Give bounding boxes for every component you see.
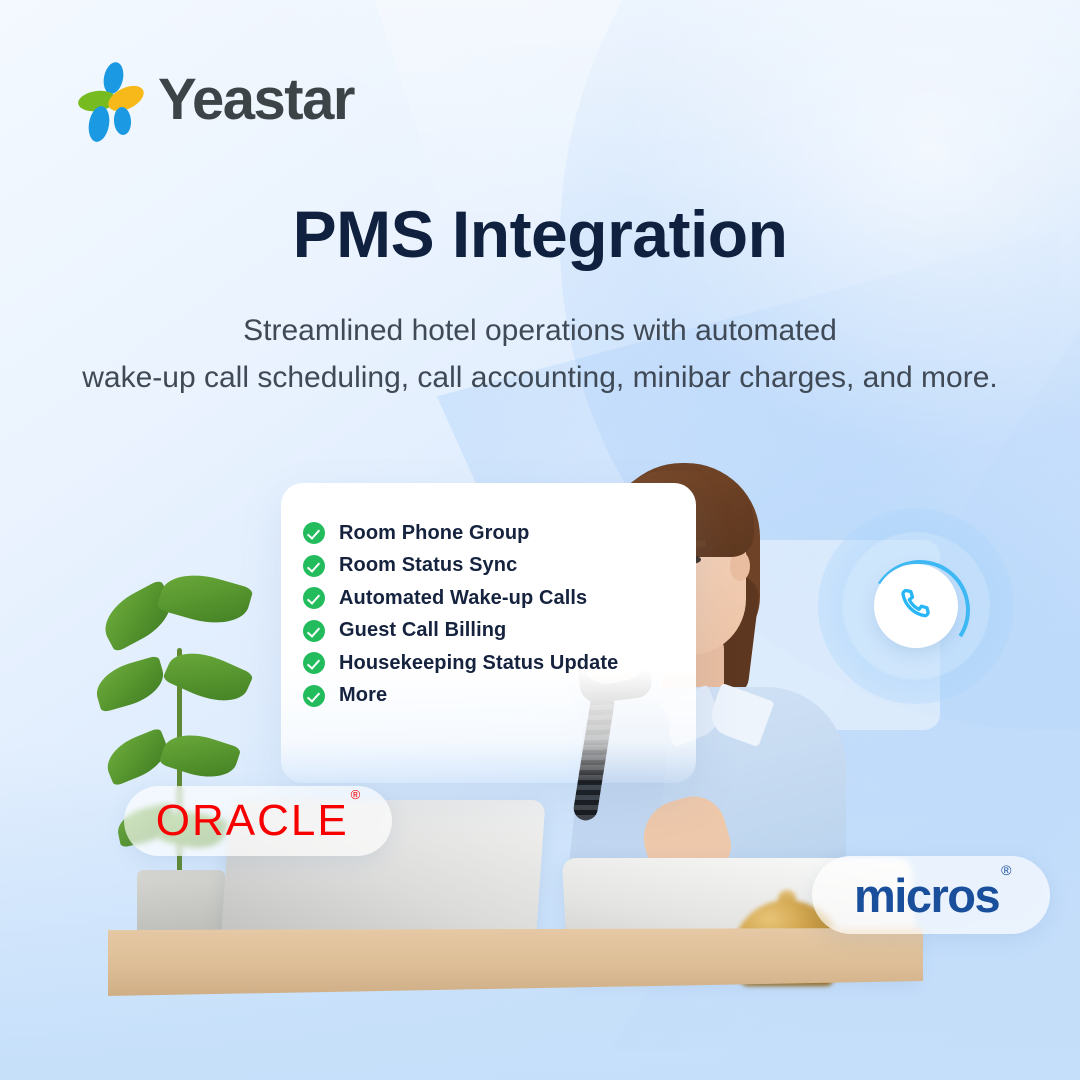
list-item: Guest Call Billing <box>303 620 723 642</box>
subtitle-line-2: wake-up call scheduling, call accounting… <box>0 355 1080 402</box>
oracle-wordmark: ORACLE <box>156 796 349 845</box>
check-circle-icon <box>303 555 325 577</box>
subtitle-line-1: Streamlined hotel operations with automa… <box>0 308 1080 355</box>
pms-integration-poster: Yeastar PMS Integration Streamlined hote… <box>0 0 1080 1080</box>
feature-list: Room Phone Group Room Status Sync Automa… <box>303 522 723 707</box>
feature-label: Automated Wake-up Calls <box>339 587 587 610</box>
phone-badge <box>818 508 1014 704</box>
oracle-logo: ORACLE® <box>156 799 361 843</box>
list-item: Room Phone Group <box>303 522 723 544</box>
feature-label: Room Phone Group <box>339 522 529 545</box>
list-item: Room Status Sync <box>303 555 723 577</box>
plant-leaf <box>162 641 254 713</box>
plant-leaf <box>91 655 169 713</box>
yeastar-pinwheel-logo-icon <box>78 62 144 138</box>
list-item: Automated Wake-up Calls <box>303 587 723 609</box>
feature-label: Housekeeping Status Update <box>339 652 618 675</box>
micros-trademark: ® <box>1001 862 1010 878</box>
page-title: PMS Integration <box>0 196 1080 272</box>
list-item: Housekeeping Status Update <box>303 652 723 674</box>
yeastar-logo: Yeastar <box>78 62 354 138</box>
plant-leaf <box>156 565 253 633</box>
partner-pill-oracle: ORACLE® <box>124 786 392 856</box>
check-circle-icon <box>303 685 325 707</box>
feature-label: More <box>339 684 387 707</box>
feature-label: Guest Call Billing <box>339 619 506 642</box>
check-circle-icon <box>303 587 325 609</box>
logo-petal-bottom-center-blue-icon <box>113 106 132 135</box>
check-circle-icon <box>303 522 325 544</box>
micros-logo: micros® <box>854 872 1008 919</box>
badge-circle <box>874 564 958 648</box>
feature-label: Room Status Sync <box>339 554 517 577</box>
phone-handset-icon <box>896 586 936 626</box>
partner-pill-micros: micros® <box>812 856 1050 934</box>
check-circle-icon <box>303 620 325 642</box>
micros-wordmark: micros <box>854 869 999 922</box>
page-subtitle: Streamlined hotel operations with automa… <box>0 308 1080 401</box>
plant-leaf <box>159 726 242 787</box>
list-item: More <box>303 685 723 707</box>
brand-wordmark: Yeastar <box>158 71 354 129</box>
oracle-trademark: ® <box>351 787 363 802</box>
check-circle-icon <box>303 652 325 674</box>
